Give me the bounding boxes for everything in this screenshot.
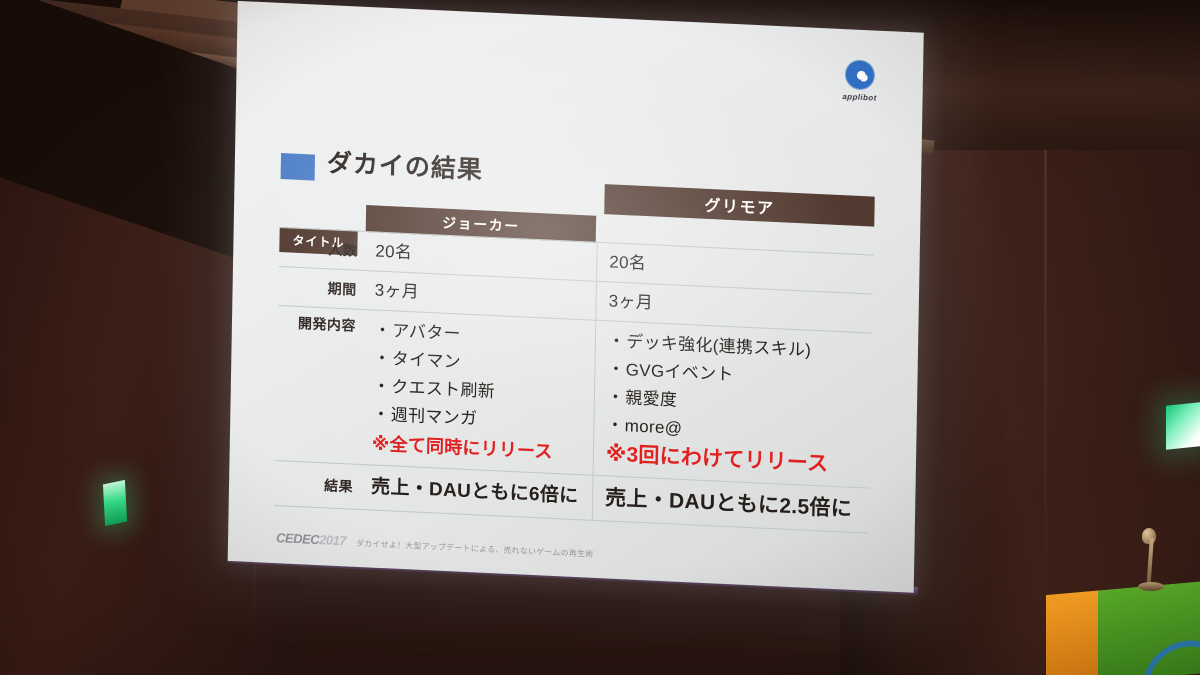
applibot-logo: applibot — [830, 59, 889, 104]
projection-screen-wrap: applibot ダカイの結果 タイトル ジョーカー グリモア — [0, 0, 1200, 675]
joker-dev-list: アバター タイマン クエスト刷新 週刊マンガ — [372, 316, 591, 438]
slide-title-row: ダカイの結果 — [281, 139, 484, 188]
cell-joker-result: 売上・DAUともに6倍に — [361, 465, 594, 520]
table-header-grimoire: グリモア — [604, 184, 875, 227]
page-title: ダカイの結果 — [327, 143, 484, 186]
cell-joker-dev: アバター タイマン クエスト刷新 週刊マンガ ※全て同時にリリース — [362, 310, 597, 475]
slide-footer: CEDEC2017 ダカイせよ！大型アップデートによる、売れないゲームの再生術 — [276, 530, 594, 560]
row-label-period: 期間 — [278, 267, 365, 309]
footer-subtitle: ダカイせよ！大型アップデートによる、売れないゲームの再生術 — [356, 538, 594, 560]
row-label-result: 結果 — [275, 461, 362, 509]
applibot-logo-text: applibot — [830, 92, 888, 104]
title-accent-bar — [281, 153, 315, 181]
cedec-year-text: 2017 — [319, 532, 346, 548]
grimoire-dev-list: デッキ強化(連携スキル) GVGイベント 親愛度 more@ — [606, 327, 868, 451]
cedec-logo: CEDEC2017 — [276, 530, 346, 548]
table-row: 開発内容 アバター タイマン クエスト刷新 週刊マンガ ※全て同時にリリース — [276, 306, 873, 489]
projection-screen: applibot ダカイの結果 タイトル ジョーカー グリモア — [228, 1, 924, 593]
cedec-brand-text: CEDEC — [276, 530, 319, 547]
table-body: 人数 20名 20名 期間 3ヶ月 3ヶ月 開発内容 — [275, 227, 874, 534]
conference-room-photo: applibot ダカイの結果 タイトル ジョーカー グリモア — [0, 0, 1200, 675]
applibot-mark-icon — [845, 59, 876, 90]
row-label-count: 人数 — [279, 228, 366, 270]
row-label-dev: 開発内容 — [276, 306, 365, 464]
presentation-slide: applibot ダカイの結果 タイトル ジョーカー グリモア — [228, 1, 924, 593]
cell-grimoire-dev: デッキ強化(連携スキル) GVGイベント 親愛度 more@ ※3回にわけてリリ… — [594, 321, 873, 488]
comparison-table: タイトル ジョーカー グリモア 人数 20名 20名 期間 — [275, 187, 875, 534]
